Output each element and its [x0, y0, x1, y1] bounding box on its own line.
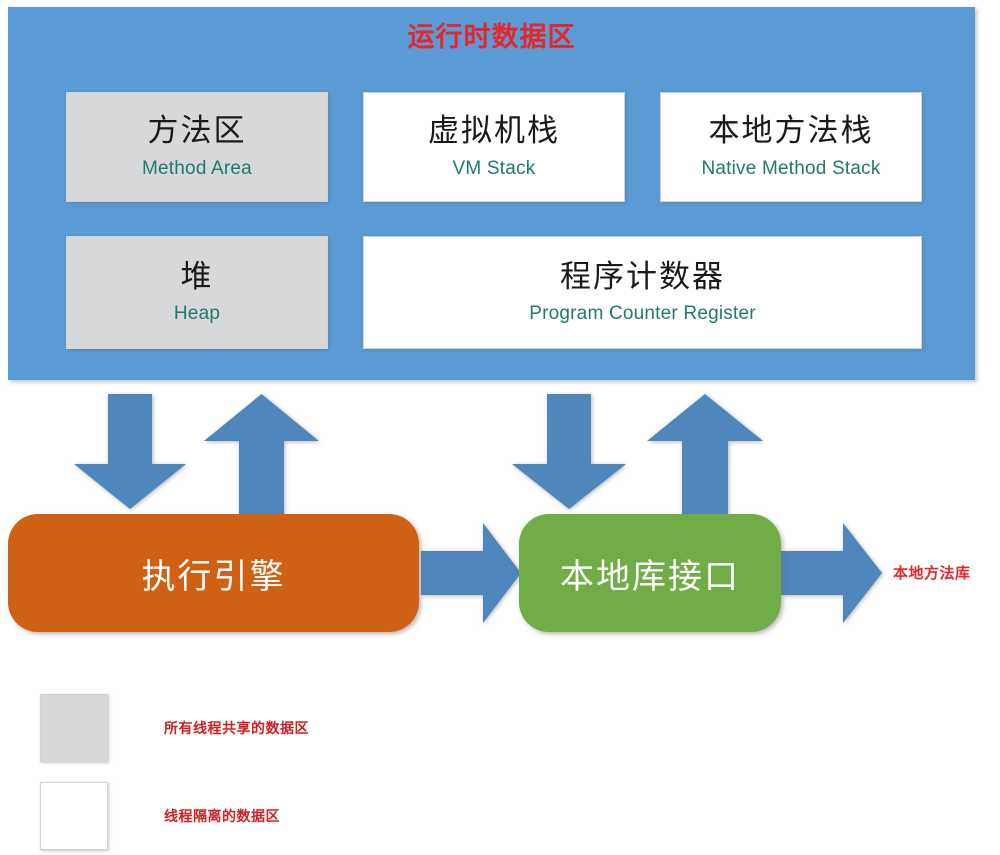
runtime-data-area-title: 运行时数据区: [8, 23, 975, 53]
up-arrow-icon: [647, 394, 763, 514]
region-program-counter-register-cn: 程序计数器: [560, 259, 725, 295]
region-heap: 堆 Heap: [66, 236, 328, 349]
legend-item-isolated: 线程隔离的数据区: [40, 782, 280, 850]
region-vm-stack-cn: 虚拟机栈: [428, 113, 560, 149]
diagram-canvas: 运行时数据区 方法区 Method Area 虚拟机栈 VM Stack 本地方…: [0, 0, 1000, 855]
region-native-method-stack-en: Native Method Stack: [701, 158, 880, 181]
legend-label-isolated: 线程隔离的数据区: [164, 806, 280, 826]
region-program-counter-register-en: Program Counter Register: [529, 303, 756, 326]
right-arrow-icon: [421, 523, 521, 623]
down-arrow-icon: [512, 394, 626, 509]
region-heap-cn: 堆: [181, 259, 214, 295]
up-arrow-icon: [204, 394, 319, 514]
region-native-method-stack-cn: 本地方法栈: [709, 113, 874, 149]
region-native-method-stack: 本地方法栈 Native Method Stack: [660, 92, 922, 202]
down-arrow-icon: [74, 394, 186, 509]
legend-item-shared: 所有线程共享的数据区: [40, 694, 309, 762]
region-vm-stack: 虚拟机栈 VM Stack: [363, 92, 625, 202]
legend-swatch-shared: [40, 694, 108, 762]
legend-swatch-isolated: [40, 782, 108, 850]
region-method-area: 方法区 Method Area: [66, 92, 328, 202]
native-library-interface-box: 本地库接口: [519, 514, 781, 632]
legend-label-shared: 所有线程共享的数据区: [164, 718, 309, 738]
region-heap-en: Heap: [174, 303, 220, 326]
region-method-area-en: Method Area: [142, 158, 252, 181]
region-vm-stack-en: VM Stack: [453, 158, 536, 181]
region-program-counter-register: 程序计数器 Program Counter Register: [363, 236, 922, 349]
right-arrow-icon: [781, 523, 882, 623]
region-method-area-cn: 方法区: [148, 113, 247, 149]
execution-engine-label: 执行引擎: [142, 549, 286, 598]
execution-engine-box: 执行引擎: [8, 514, 419, 632]
native-library-interface-label: 本地库接口: [560, 549, 740, 598]
native-library-label: 本地方法库: [893, 562, 971, 583]
